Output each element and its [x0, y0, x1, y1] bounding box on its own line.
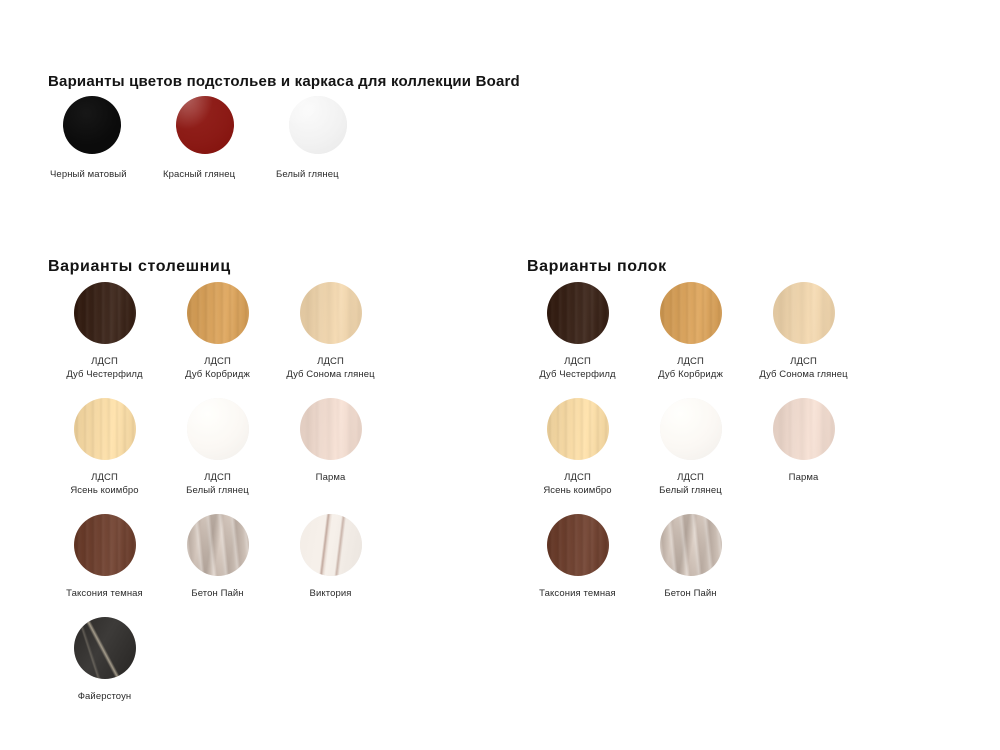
swatch-item[interactable]: Файерстоун	[48, 617, 161, 703]
color-swatch[interactable]	[660, 398, 722, 460]
swatch-item[interactable]: ЛДСПДуб Корбридж	[634, 282, 747, 381]
swatch-item[interactable]: Таксония темная	[521, 514, 634, 600]
color-swatch[interactable]	[187, 282, 249, 344]
swatch-label-line2: Дуб Честерфилд	[66, 368, 142, 381]
swatch-label: ЛДСПЯсень коимбро	[70, 471, 138, 497]
swatch-label-line1: Бетон Пайн	[191, 588, 243, 599]
swatch-label-line2: Дуб Сонома глянец	[759, 368, 847, 381]
swatch-label: Черный матовый	[48, 168, 127, 181]
color-swatch[interactable]	[74, 282, 136, 344]
swatch-label-line1: Парма	[789, 472, 819, 483]
color-swatch[interactable]	[300, 282, 362, 344]
swatch-texture	[660, 398, 722, 460]
swatch-item[interactable]: Бетон Пайн	[634, 514, 747, 600]
color-swatch[interactable]	[300, 514, 362, 576]
swatch-label: ЛДСПБелый глянец	[659, 471, 722, 497]
color-swatch[interactable]	[547, 514, 609, 576]
swatch-item[interactable]: Черный матовый	[48, 96, 161, 181]
swatch-label: Парма	[789, 471, 819, 484]
swatch-item[interactable]: Виктория	[274, 514, 387, 600]
swatch-label: Красный глянец	[161, 168, 235, 181]
color-swatch[interactable]	[74, 514, 136, 576]
swatch-label-line1: Бетон Пайн	[664, 588, 716, 599]
countertops-swatch-grid: ЛДСПДуб ЧестерфилдЛДСПДуб КорбриджЛДСПДу…	[48, 282, 387, 703]
color-swatch[interactable]	[289, 96, 347, 154]
swatch-item[interactable]: ЛДСПДуб Корбридж	[161, 282, 274, 381]
swatch-item[interactable]: Бетон Пайн	[161, 514, 274, 600]
color-swatch[interactable]	[773, 398, 835, 460]
swatch-label-line1: ЛДСП	[790, 356, 817, 367]
swatch-label: ЛДСПДуб Честерфилд	[66, 355, 142, 381]
swatch-texture	[187, 282, 249, 344]
swatch-label: Файерстоун	[78, 690, 132, 703]
swatch-texture	[74, 514, 136, 576]
swatch-label: ЛДСПЯсень коимбро	[543, 471, 611, 497]
swatch-label: Виктория	[310, 587, 352, 600]
frames-swatch-grid: Черный матовыйКрасный глянецБелый глянец	[48, 96, 387, 181]
shelves-section-title: Варианты полок	[527, 258, 667, 276]
swatch-texture	[773, 398, 835, 460]
swatch-label-line1: ЛДСП	[317, 356, 344, 367]
swatch-label-line1: ЛДСП	[91, 356, 118, 367]
swatch-label-line1: ЛДСП	[677, 472, 704, 483]
swatch-label-line1: Красный глянец	[163, 169, 235, 180]
swatch-item[interactable]: ЛДСПДуб Сонома глянец	[747, 282, 860, 381]
color-swatch[interactable]	[187, 398, 249, 460]
swatch-texture	[660, 282, 722, 344]
swatch-item[interactable]: ЛДСПБелый глянец	[161, 398, 274, 497]
swatch-texture	[74, 398, 136, 460]
swatch-label-line2: Ясень коимбро	[543, 484, 611, 497]
color-swatch[interactable]	[187, 514, 249, 576]
swatch-label-line1: ЛДСП	[564, 472, 591, 483]
color-swatch[interactable]	[300, 398, 362, 460]
color-swatch[interactable]	[63, 96, 121, 154]
swatch-texture	[547, 514, 609, 576]
swatch-label-line2: Дуб Сонома глянец	[286, 368, 374, 381]
swatch-texture	[176, 96, 234, 154]
color-swatch[interactable]	[547, 398, 609, 460]
swatch-texture	[660, 514, 722, 576]
swatch-label: ЛДСПДуб Сонома глянец	[286, 355, 374, 381]
swatch-label: ЛДСПДуб Корбридж	[185, 355, 250, 381]
swatch-label-line1: ЛДСП	[91, 472, 118, 483]
swatch-item[interactable]: ЛДСПБелый глянец	[634, 398, 747, 497]
swatch-label-line2: Дуб Корбридж	[185, 368, 250, 381]
swatch-label: Белый глянец	[274, 168, 339, 181]
color-swatch[interactable]	[547, 282, 609, 344]
swatch-label-line1: ЛДСП	[677, 356, 704, 367]
shelves-swatch-grid: ЛДСПДуб ЧестерфилдЛДСПДуб КорбриджЛДСПДу…	[521, 282, 860, 600]
color-swatch[interactable]	[74, 617, 136, 679]
swatch-texture	[74, 282, 136, 344]
swatch-texture	[300, 282, 362, 344]
swatch-label-line1: Белый глянец	[276, 169, 339, 180]
swatch-item[interactable]: ЛДСПДуб Сонома глянец	[274, 282, 387, 381]
swatch-label: ЛДСПДуб Сонома глянец	[759, 355, 847, 381]
countertops-section-title: Варианты столешниц	[48, 258, 231, 276]
swatch-texture	[547, 282, 609, 344]
swatch-item[interactable]: Красный глянец	[161, 96, 274, 181]
color-swatch[interactable]	[74, 398, 136, 460]
swatch-texture	[187, 398, 249, 460]
swatch-label-line1: ЛДСП	[204, 356, 231, 367]
swatch-label-line2: Дуб Корбридж	[658, 368, 723, 381]
swatch-label: ЛДСПДуб Корбридж	[658, 355, 723, 381]
swatch-label-line1: Черный матовый	[50, 169, 127, 180]
swatch-texture	[74, 617, 136, 679]
swatch-label: Бетон Пайн	[191, 587, 243, 600]
swatch-label-line1: Таксония темная	[66, 588, 143, 599]
swatch-item[interactable]: Белый глянец	[274, 96, 387, 181]
swatch-texture	[63, 96, 121, 154]
swatch-label-line1: Таксония темная	[539, 588, 616, 599]
swatch-label: Парма	[316, 471, 346, 484]
color-swatch[interactable]	[660, 282, 722, 344]
swatch-label-line1: Виктория	[310, 588, 352, 599]
swatch-item[interactable]: ЛДСПДуб Честерфилд	[521, 282, 634, 381]
catalog-page: Варианты цветов подстольев и каркаса для…	[0, 0, 1000, 750]
swatch-texture	[773, 282, 835, 344]
swatch-label: Бетон Пайн	[664, 587, 716, 600]
swatch-label: ЛДСПДуб Честерфилд	[539, 355, 615, 381]
swatch-label: Таксония темная	[66, 587, 143, 600]
swatch-item[interactable]: Парма	[747, 398, 860, 497]
swatch-item[interactable]: Парма	[274, 398, 387, 497]
swatch-label-line1: Парма	[316, 472, 346, 483]
frames-section-title: Варианты цветов подстольев и каркаса для…	[48, 73, 520, 90]
color-swatch[interactable]	[660, 514, 722, 576]
swatch-label-line1: Файерстоун	[78, 691, 132, 702]
swatch-label-line2: Белый глянец	[186, 484, 249, 497]
swatch-texture	[300, 514, 362, 576]
swatch-label-line2: Дуб Честерфилд	[539, 368, 615, 381]
swatch-texture	[300, 398, 362, 460]
swatch-texture	[187, 514, 249, 576]
color-swatch[interactable]	[176, 96, 234, 154]
swatch-label-line1: ЛДСП	[204, 472, 231, 483]
swatch-texture	[547, 398, 609, 460]
swatch-label-line2: Ясень коимбро	[70, 484, 138, 497]
swatch-item[interactable]: ЛДСПЯсень коимбро	[521, 398, 634, 497]
swatch-item[interactable]: Таксония темная	[48, 514, 161, 600]
swatch-label-line1: ЛДСП	[564, 356, 591, 367]
swatch-item[interactable]: ЛДСПДуб Честерфилд	[48, 282, 161, 381]
color-swatch[interactable]	[773, 282, 835, 344]
swatch-label-line2: Белый глянец	[659, 484, 722, 497]
swatch-texture	[289, 96, 347, 154]
swatch-label: Таксония темная	[539, 587, 616, 600]
swatch-item[interactable]: ЛДСПЯсень коимбро	[48, 398, 161, 497]
swatch-label: ЛДСПБелый глянец	[186, 471, 249, 497]
